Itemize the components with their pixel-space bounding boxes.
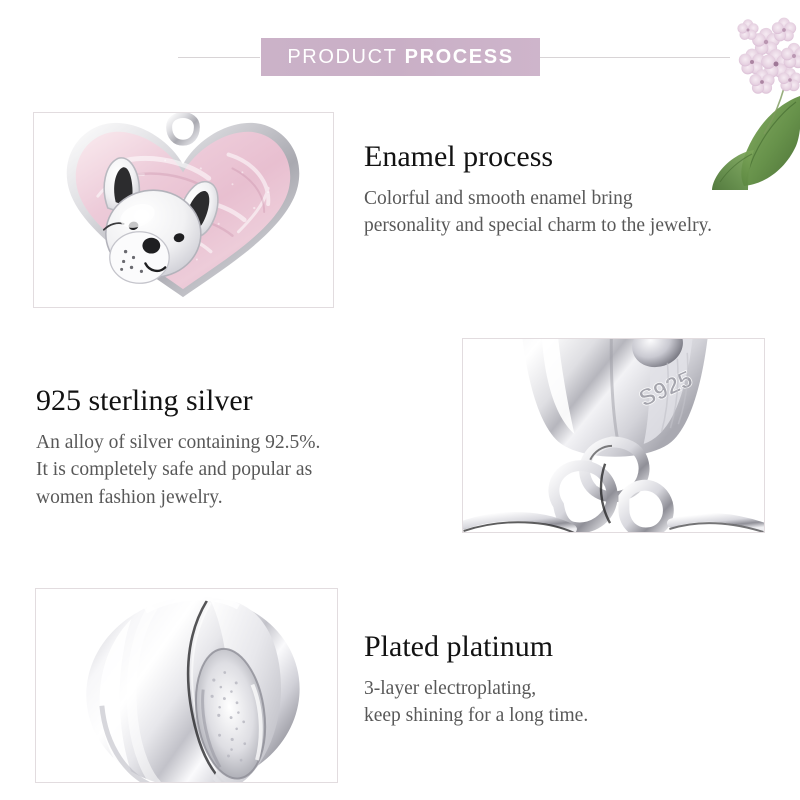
banner-word-product: PRODUCT xyxy=(287,46,397,68)
platinum-plated-spacer-bead-photo xyxy=(35,588,338,783)
banner-rule-left xyxy=(178,57,260,58)
product-process-banner: PRODUCT PROCESS xyxy=(261,38,540,76)
banner-label: PRODUCT PROCESS xyxy=(287,47,513,67)
banner-rule-right xyxy=(540,57,730,58)
enamel-heart-dog-charm-photo xyxy=(33,112,334,308)
section-silver-body-line-3: women fashion jewelry. xyxy=(36,484,416,512)
section-platinum-body-line-1: 3-layer electroplating, xyxy=(364,675,724,703)
section-platinum-heading: Plated platinum xyxy=(364,630,724,664)
section-platinum-body-line-2: keep shining for a long time. xyxy=(364,702,724,730)
section-silver-text: 925 sterling silver An alloy of silver c… xyxy=(36,384,416,512)
section-enamel-body-line-2: personality and special charm to the jew… xyxy=(364,212,714,240)
section-silver-heading: 925 sterling silver xyxy=(36,384,416,418)
section-silver-body-line-2: It is completely safe and popular as xyxy=(36,456,416,484)
section-platinum-text: Plated platinum 3-layer electroplating, … xyxy=(364,630,724,730)
section-silver-body-line-1: An alloy of silver containing 92.5%. xyxy=(36,429,416,457)
section-enamel-body-line-1: Colorful and smooth enamel bring xyxy=(364,185,714,213)
section-enamel-heading: Enamel process xyxy=(364,140,714,174)
s925-stamped-bail-photo: S925 xyxy=(462,338,765,533)
header-banner-area: PRODUCT PROCESS xyxy=(0,38,800,76)
section-enamel-text: Enamel process Colorful and smooth ename… xyxy=(364,140,714,240)
banner-word-process: PROCESS xyxy=(405,46,514,68)
